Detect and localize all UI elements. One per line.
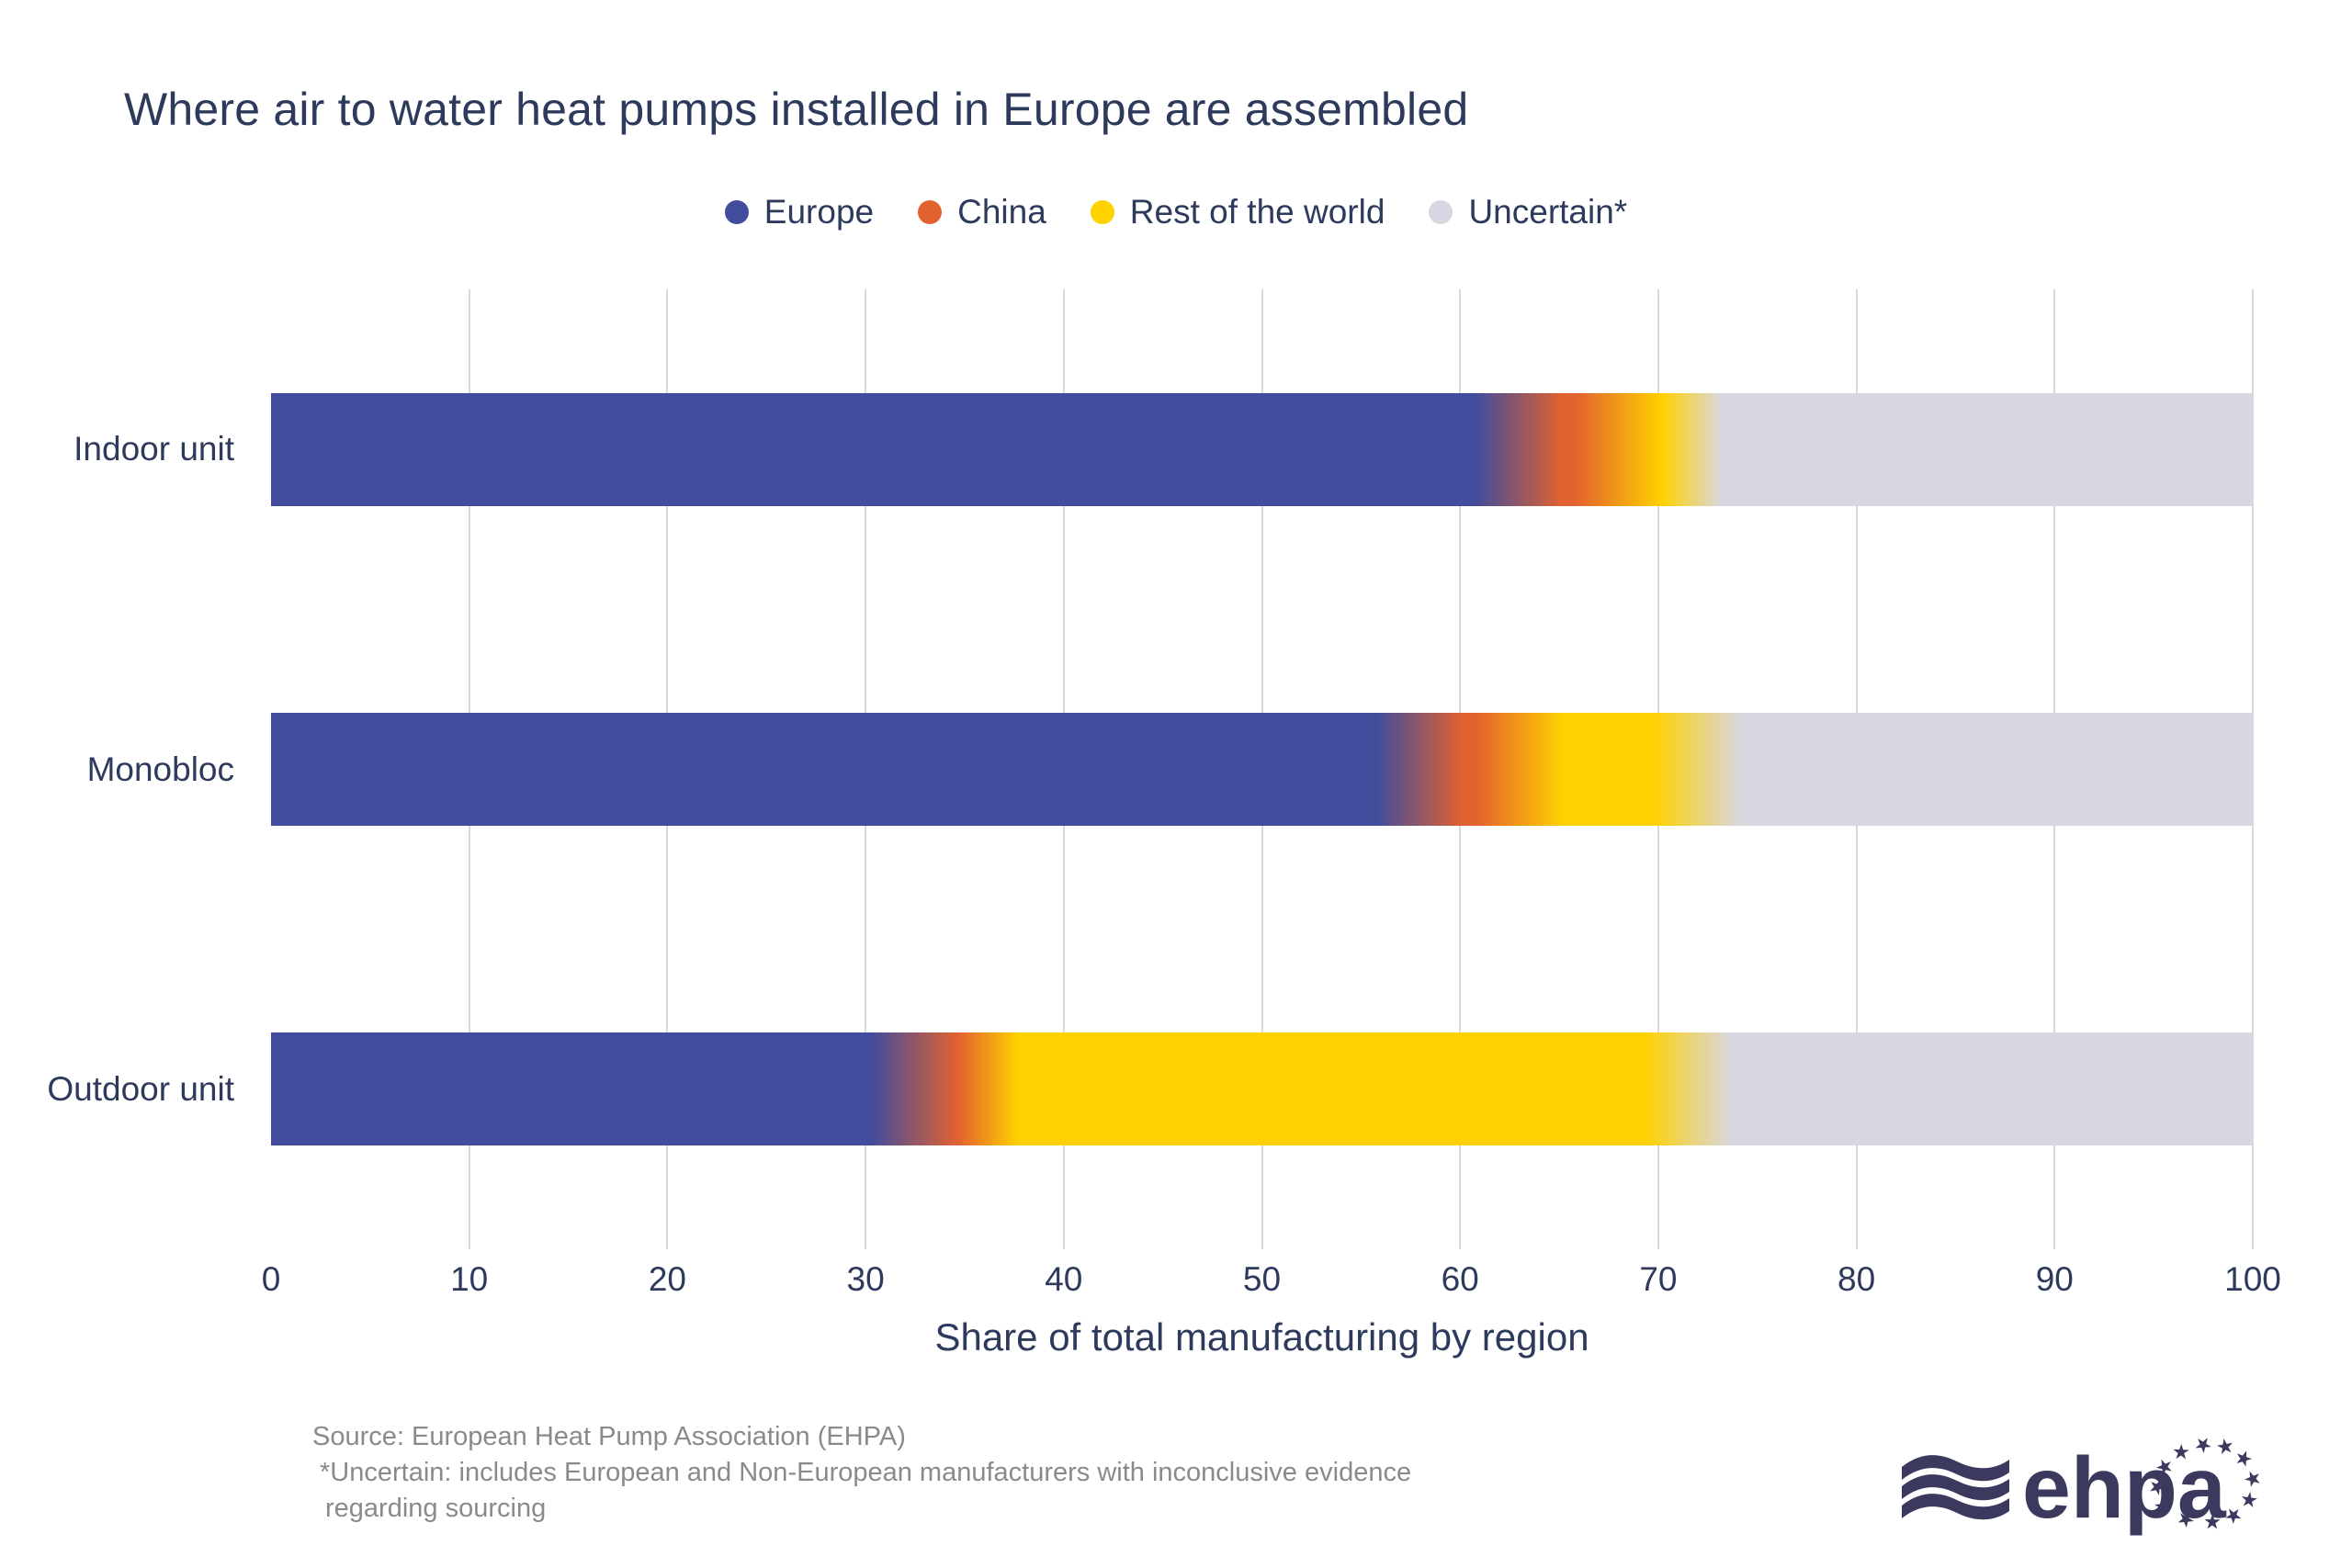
bar-indoor-unit[interactable]: [271, 393, 2253, 506]
legend-item-label: Uncertain*: [1468, 193, 1627, 231]
x-axis-tick-label: 20: [649, 1260, 686, 1299]
x-axis-tick-label: 60: [1442, 1260, 1479, 1299]
legend-item-china[interactable]: China: [918, 193, 1046, 231]
legend-item-uncertain[interactable]: Uncertain*: [1429, 193, 1627, 231]
x-axis-tick-label: 40: [1045, 1260, 1082, 1299]
bar-monobloc[interactable]: [271, 713, 2253, 826]
y-axis-label-monobloc: Monobloc: [87, 750, 234, 789]
bar-fill: [271, 393, 2253, 506]
x-axis-tick-label: 10: [450, 1260, 488, 1299]
logo-waves-icon: [1902, 1455, 2009, 1519]
ehpa-logo-svg: ehpa: [1897, 1415, 2283, 1543]
legend-item-label: China: [957, 193, 1046, 231]
legend-swatch-icon: [725, 200, 749, 224]
x-axis-tick-label: 100: [2224, 1260, 2281, 1299]
uncertain-note-line-1: *Uncertain: includes European and Non-Eu…: [312, 1455, 1411, 1491]
x-axis-tick-label: 50: [1243, 1260, 1281, 1299]
x-axis-tick-label: 0: [262, 1260, 281, 1299]
footer-notes: Source: European Heat Pump Association (…: [312, 1419, 1411, 1527]
uncertain-note-line-2: regarding sourcing: [312, 1491, 1411, 1527]
y-axis-label-indoor-unit: Indoor unit: [73, 430, 234, 468]
chart-title: Where air to water heat pumps installed …: [124, 83, 1468, 136]
y-axis-labels: Indoor unitMonoblocOutdoor unit: [0, 289, 254, 1249]
legend-swatch-icon: [1429, 200, 1453, 224]
legend-item-label: Rest of the world: [1130, 193, 1385, 231]
bar-fill: [271, 1032, 2253, 1145]
x-axis-tick-label: 90: [2036, 1260, 2074, 1299]
x-axis-tick-labels: 0102030405060708090100: [271, 1260, 2253, 1315]
legend-item-europe[interactable]: Europe: [725, 193, 874, 231]
x-axis-tick-label: 70: [1639, 1260, 1677, 1299]
bar-outdoor-unit[interactable]: [271, 1032, 2253, 1145]
legend-item-rest-of-the-world[interactable]: Rest of the world: [1091, 193, 1385, 231]
chart-legend: EuropeChinaRest of the worldUncertain*: [0, 193, 2352, 231]
legend-swatch-icon: [918, 200, 942, 224]
y-axis-label-outdoor-unit: Outdoor unit: [47, 1070, 234, 1109]
bar-fill: [271, 713, 2253, 826]
logo-wordmark: ehpa: [2022, 1439, 2227, 1537]
x-axis-title: Share of total manufacturing by region: [271, 1315, 2253, 1359]
legend-swatch-icon: [1091, 200, 1114, 224]
ehpa-logo: ehpa: [1897, 1415, 2283, 1543]
x-axis-tick-label: 30: [847, 1260, 885, 1299]
x-axis-tick-label: 80: [1837, 1260, 1875, 1299]
source-line: Source: European Heat Pump Association (…: [312, 1419, 1411, 1455]
plot-area: [271, 289, 2253, 1249]
bar-series-container: [271, 289, 2253, 1249]
legend-item-label: Europe: [764, 193, 874, 231]
